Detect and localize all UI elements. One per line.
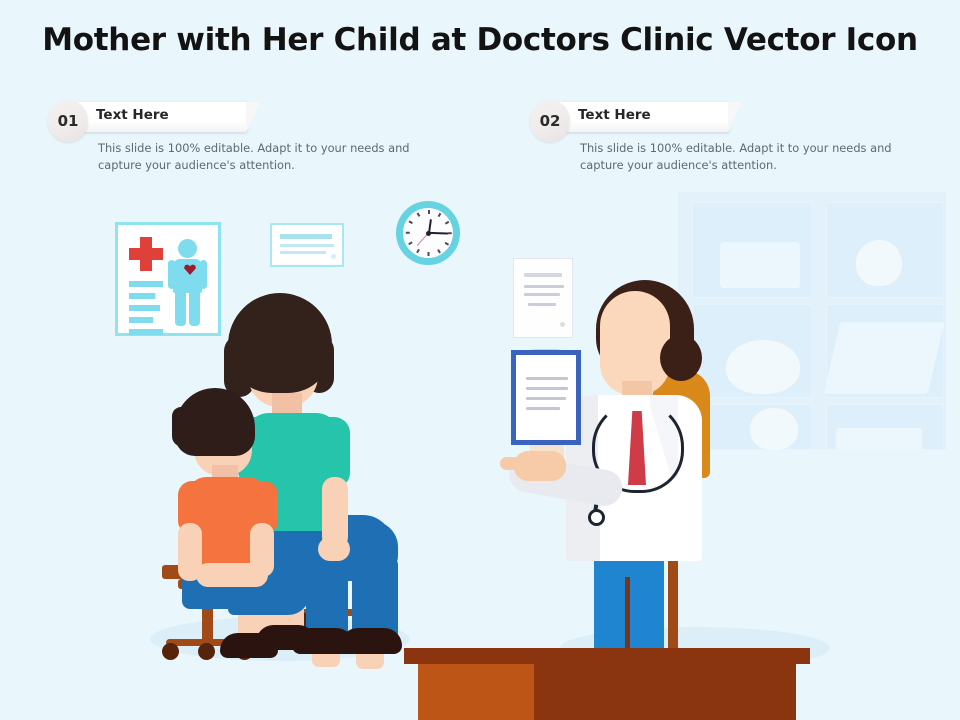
red-cross-icon [129,248,163,260]
slide-canvas: Mother with Her Child at Doctors Clinic … [0,0,960,720]
bullet-block-01[interactable]: 01 Text Here This slide is 100% editable… [48,100,448,180]
human-body-icon [178,239,197,258]
medical-poster-icon [115,222,221,336]
bullet-block-02[interactable]: 02 Text Here This slide is 100% editable… [530,100,930,180]
clinic-illustration [0,185,960,720]
bullet-heading: Text Here [96,107,169,123]
shoe-icon [340,628,402,654]
bullet-body-text: This slide is 100% editable. Adapt it to… [98,140,443,174]
shoe-icon [256,625,316,650]
bullet-body-text: This slide is 100% editable. Adapt it to… [580,140,925,174]
bullet-number-badge: 01 [48,100,88,142]
bullet-heading: Text Here [578,107,651,123]
bookshelf-icon [678,192,946,450]
wall-note-card-icon [270,223,344,267]
paper-document-icon [514,259,572,337]
wall-clock-icon [396,201,460,265]
clipboard-icon [511,350,581,445]
bullet-number-badge: 02 [530,100,570,142]
page-title: Mother with Her Child at Doctors Clinic … [0,22,960,58]
